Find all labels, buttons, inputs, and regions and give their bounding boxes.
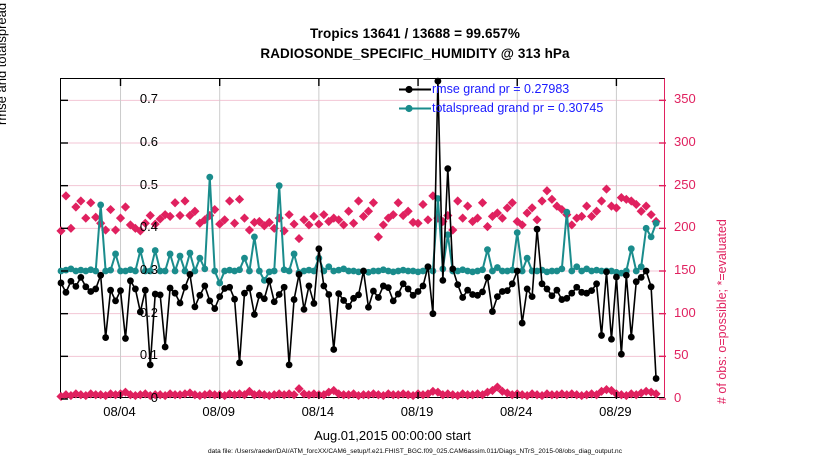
y-tick-left-2: 0.2 bbox=[118, 305, 158, 320]
chart-title: Tropics 13641 / 13688 = 99.657% RADIOSON… bbox=[0, 24, 830, 64]
legend-marker-totalspread bbox=[398, 99, 432, 118]
y-axis-left-label: rmse and totalspread bbox=[0, 3, 9, 125]
x-tick-1: 08/09 bbox=[184, 404, 254, 419]
y-tick-left-0: 0 bbox=[118, 390, 158, 405]
x-axis-label: Aug.01,2015 00:00:00 start bbox=[60, 428, 725, 443]
legend-label-totalspread: totalspread grand pr = 0.30745 bbox=[432, 99, 603, 118]
legend-label-rmse: rmse grand pr = 0.27983 bbox=[432, 80, 569, 99]
legend-item-totalspread: totalspread grand pr = 0.30745 bbox=[398, 99, 658, 118]
y-tick-right-1: 50 bbox=[674, 347, 718, 362]
y-tick-right-7: 350 bbox=[674, 91, 718, 106]
y-tick-right-6: 300 bbox=[674, 134, 718, 149]
chart-legend: rmse grand pr = 0.27983 totalspread gran… bbox=[398, 80, 658, 118]
y-tick-right-5: 250 bbox=[674, 177, 718, 192]
y-tick-left-1: 0.1 bbox=[118, 347, 158, 362]
title-line-2: RADIOSONDE_SPECIFIC_HUMIDITY @ 313 hPa bbox=[0, 44, 830, 64]
y-tick-left-6: 0.6 bbox=[118, 134, 158, 149]
legend-item-rmse: rmse grand pr = 0.27983 bbox=[398, 80, 658, 99]
title-line-1: Tropics 13641 / 13688 = 99.657% bbox=[0, 24, 830, 44]
y-tick-left-7: 0.7 bbox=[118, 91, 158, 106]
y-tick-right-0: 0 bbox=[674, 390, 718, 405]
x-tick-3: 08/19 bbox=[382, 404, 452, 419]
y-tick-right-4: 200 bbox=[674, 219, 718, 234]
x-tick-4: 08/24 bbox=[481, 404, 551, 419]
y-tick-left-5: 0.5 bbox=[118, 177, 158, 192]
y-tick-left-3: 0.3 bbox=[118, 262, 158, 277]
x-tick-5: 08/29 bbox=[580, 404, 650, 419]
x-tick-0: 08/04 bbox=[85, 404, 155, 419]
y-tick-left-4: 0.4 bbox=[118, 219, 158, 234]
y-tick-right-3: 150 bbox=[674, 262, 718, 277]
y-tick-right-2: 100 bbox=[674, 305, 718, 320]
x-tick-2: 08/14 bbox=[283, 404, 353, 419]
figure-root: Tropics 13641 / 13688 = 99.657% RADIOSON… bbox=[0, 0, 830, 470]
data-file-footer: data file: /Users/raeder/DAI/ATM_forcXX/… bbox=[0, 448, 830, 455]
legend-marker-rmse bbox=[398, 80, 432, 99]
